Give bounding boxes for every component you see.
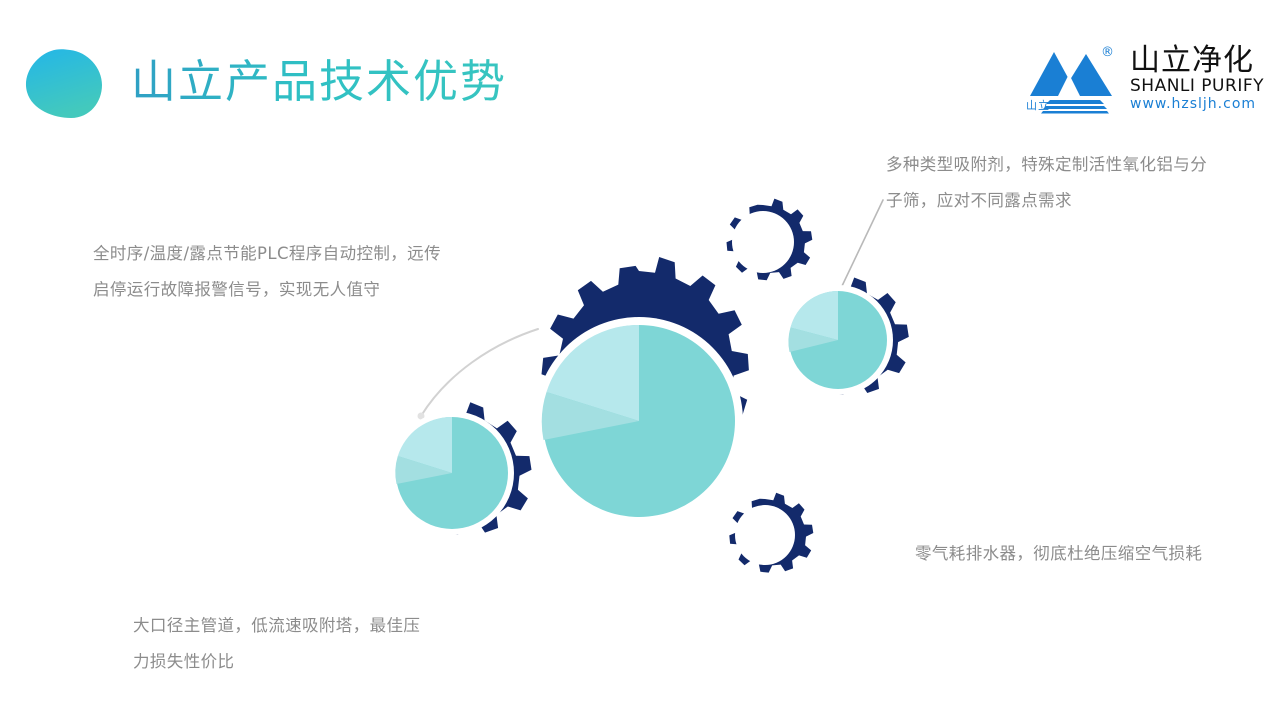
gear-main <box>535 257 749 525</box>
company-logo: ® 山立 山立净化 SHANLI PURIFY www.hzsljh.com <box>1024 42 1264 114</box>
logo-mountain-mark: ® 山立 <box>1024 44 1124 114</box>
gear-bottom-small <box>729 493 813 573</box>
page-title: 山立产品技术优势 <box>131 53 507 111</box>
logo-wordmark: 山立净化 SHANLI PURIFY www.hzsljh.com <box>1130 45 1264 112</box>
connector-line-top-left <box>421 329 538 416</box>
logo-company-name-en: SHANLI PURIFY <box>1130 77 1264 96</box>
registered-trademark-icon: ® <box>1101 46 1114 59</box>
logo-mark-label: 山立 <box>1026 100 1050 112</box>
connector-line-top-right <box>822 200 883 328</box>
logo-website-url: www.hzsljh.com <box>1130 96 1264 112</box>
callout-bottom-right: 零气耗排水器，彻底杜绝压缩空气损耗 <box>915 536 1235 572</box>
callout-top-right: 多种类型吸附剂，特殊定制活性氧化铝与分子筛，应对不同露点需求 <box>886 147 1216 219</box>
callout-top-left: 全时序/温度/露点节能PLC程序自动控制，远传启停运行故障报警信号，实现无人值守 <box>93 236 443 308</box>
gear-top-small <box>727 199 813 281</box>
slide-canvas: 山立产品技术优势 ® 山立 山立净化 SHANLI PURIFY www.hzs… <box>0 0 1280 720</box>
header-accent-blob <box>24 48 104 120</box>
callout-bottom-left: 大口径主管道，低流速吸附塔，最佳压力损失性价比 <box>133 608 433 680</box>
gear-lower-left <box>390 402 532 535</box>
gear-right <box>783 278 909 396</box>
connector-dot-top-left <box>418 413 425 420</box>
logo-company-name-cn: 山立净化 <box>1130 45 1264 77</box>
